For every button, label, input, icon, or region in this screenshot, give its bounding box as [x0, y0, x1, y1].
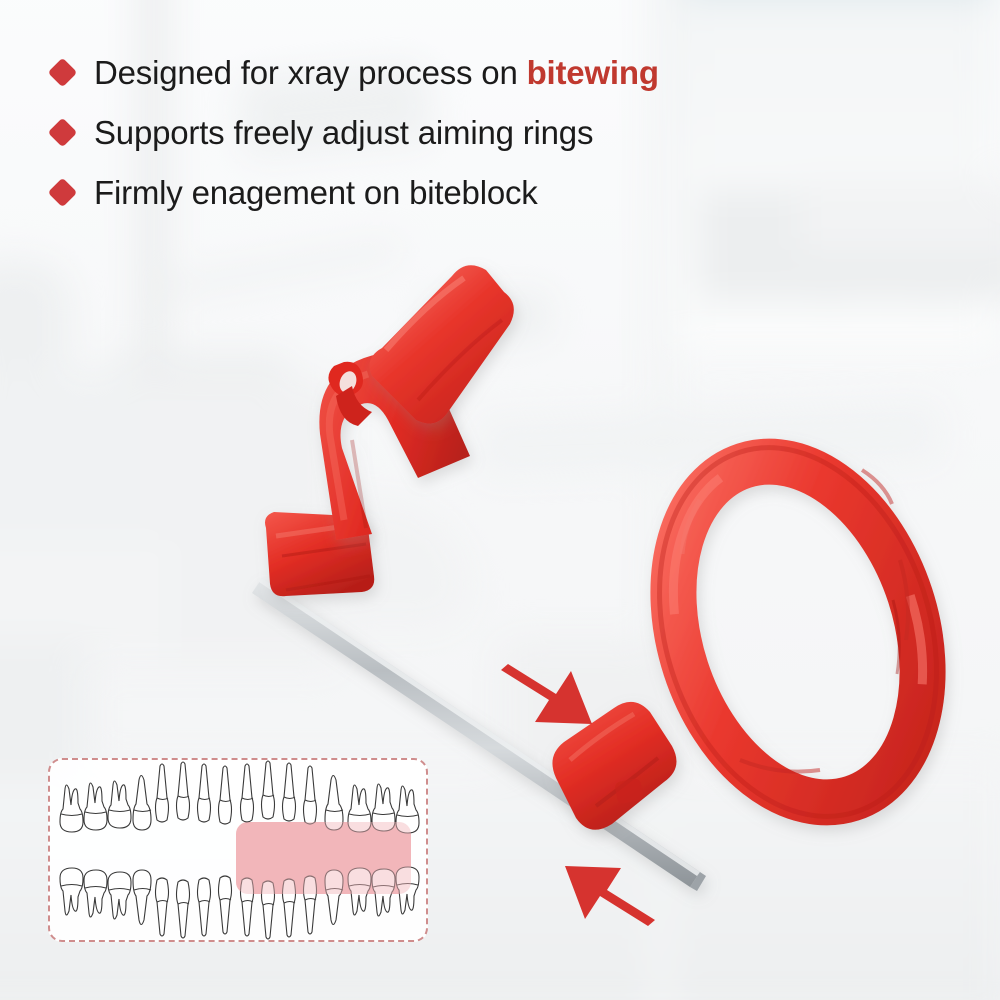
feature-text-biteblock: Firmly enagement on biteblock — [94, 176, 538, 209]
diamond-bullet-icon — [48, 57, 78, 87]
diamond-bullet-icon — [48, 177, 78, 207]
feature-text-aiming-rings: Supports freely adjust aiming rings — [94, 116, 593, 149]
bg-counter — [479, 402, 941, 478]
feature-item-aiming-rings: Supports freely adjust aiming rings — [52, 102, 752, 162]
feature-item-bitewing: Designed for xray process on bitewing — [52, 42, 752, 102]
bg-stool — [500, 640, 690, 780]
bg-instrument-tray — [429, 291, 552, 345]
feature-highlight-bitewing: bitewing — [527, 54, 659, 91]
dental-arch-diagram — [50, 760, 426, 940]
product-feature-poster: Designed for xray process on bitewing Su… — [0, 0, 1000, 1000]
feature-text-lead: Designed for xray process on — [94, 54, 527, 91]
bg-lamp-arm — [170, 240, 399, 296]
bg-right-chair-seat — [800, 180, 1000, 250]
diamond-bullet-icon — [48, 117, 78, 147]
bitewing-highlight-overlay — [236, 822, 411, 894]
feature-list: Designed for xray process on bitewing Su… — [52, 42, 752, 222]
feature-text-bitewing: Designed for xray process on bitewing — [94, 56, 659, 89]
tooth-chart-inset — [48, 758, 428, 942]
feature-item-biteblock: Firmly enagement on biteblock — [52, 162, 752, 222]
